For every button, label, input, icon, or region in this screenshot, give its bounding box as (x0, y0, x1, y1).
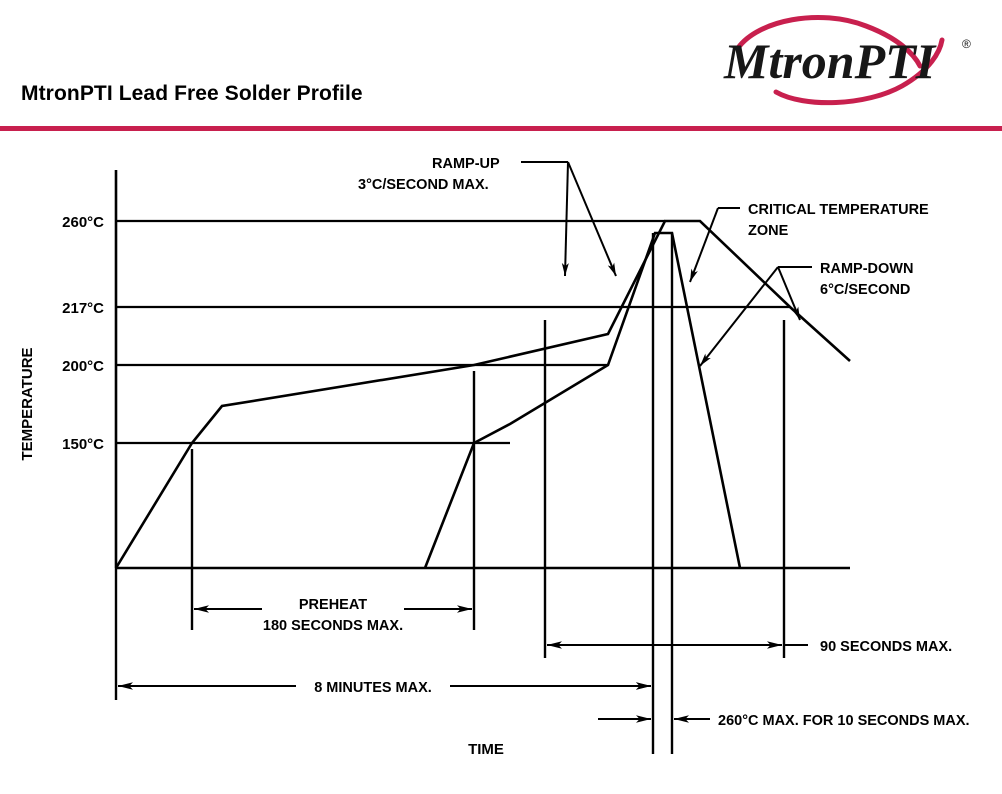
dimension-preheat: PREHEAT 180 SECONDS MAX. (194, 597, 472, 634)
critical-zone-label-line1: CRITICAL TEMPERATURE (748, 202, 929, 218)
tick-label-260: 260°C (62, 214, 104, 231)
annotation-ramp-up: RAMP-UP 3°C/SECOND MAX. (358, 156, 616, 276)
title-divider (0, 126, 1002, 131)
ramp-down-arrow-lower (700, 267, 778, 366)
logo-wordmark: MtronPTI (723, 33, 937, 89)
tick-label-150: 150°C (62, 436, 104, 453)
y-axis-title: TEMPERATURE (19, 347, 36, 460)
critical-zone-arrow (690, 208, 718, 282)
mtronpti-logo-graphic: MtronPTI ® (716, 14, 984, 106)
solder-profile-curve-upper (425, 233, 740, 568)
ramp-up-label-line1: RAMP-UP (432, 156, 500, 172)
ramp-down-label-line2: 6°C/SECOND (820, 282, 910, 298)
tick-label-200: 200°C (62, 358, 104, 375)
ramp-up-arrow-left (565, 162, 568, 276)
solder-profile-curve-lower (116, 221, 850, 568)
page-title: MtronPTI Lead Free Solder Profile (21, 82, 363, 106)
x-axis-title: TIME (468, 741, 504, 758)
mtronpti-logo: MtronPTI ® (716, 14, 984, 106)
eight-minutes-label: 8 MINUTES MAX. (314, 680, 432, 696)
ramp-down-arrow-upper (778, 267, 800, 320)
preheat-label-line1: PREHEAT (299, 597, 367, 613)
ramp-up-label-line2: 3°C/SECOND MAX. (358, 177, 489, 193)
profile-chart-svg: 260°C 217°C 200°C 150°C TEMPERATURE TIME… (0, 134, 1002, 794)
critical-zone-label-line2: ZONE (748, 223, 789, 239)
peak-hold-label: 260°C MAX. FOR 10 SECONDS MAX. (718, 713, 970, 729)
solder-profile-chart: 260°C 217°C 200°C 150°C TEMPERATURE TIME… (0, 134, 1002, 794)
tick-label-217: 217°C (62, 300, 104, 317)
ramp-down-label-line1: RAMP-DOWN (820, 261, 913, 277)
logo-registered-icon: ® (962, 37, 971, 51)
dimension-eight-minutes: 8 MINUTES MAX. (118, 680, 651, 696)
annotation-ramp-down: RAMP-DOWN 6°C/SECOND (700, 261, 913, 366)
preheat-label-line2: 180 SECONDS MAX. (263, 618, 403, 634)
page-header: MtronPTI ® MtronPTI Lead Free Solder Pro… (0, 0, 1002, 134)
ramp-up-arrow-right (568, 162, 616, 276)
ninety-seconds-label: 90 SECONDS MAX. (820, 639, 952, 655)
dimension-ninety-seconds: 90 SECONDS MAX. (547, 639, 952, 655)
